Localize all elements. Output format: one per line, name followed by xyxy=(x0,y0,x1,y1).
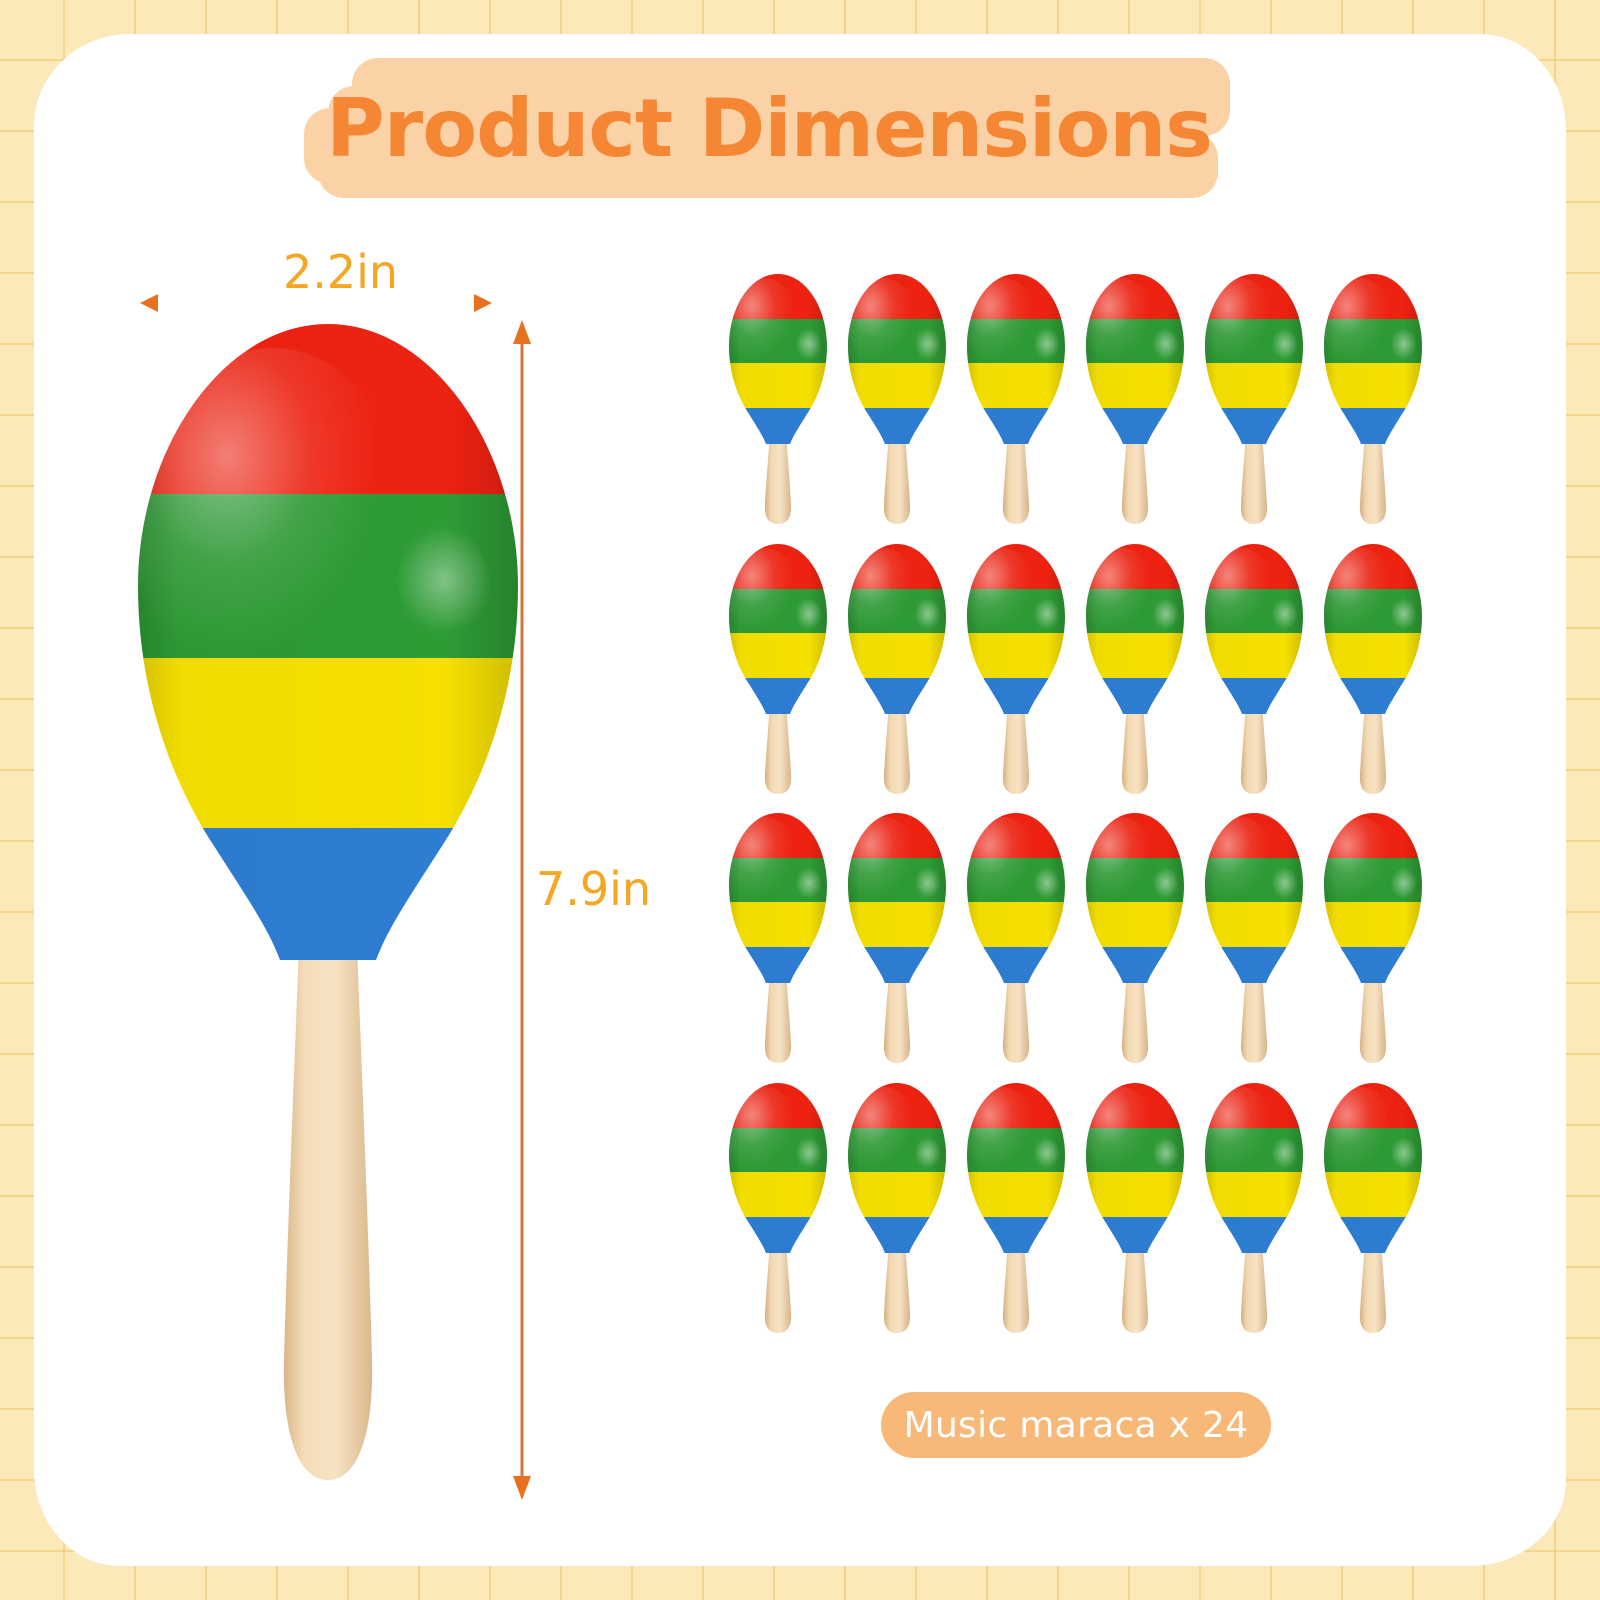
maraca-head xyxy=(1321,272,1425,452)
hero-maraca-head xyxy=(132,318,524,998)
maraca-handle xyxy=(1121,432,1147,524)
page-title: Product Dimensions xyxy=(304,58,1234,198)
maraca-illustration xyxy=(726,542,830,798)
maraca-head xyxy=(1321,1081,1425,1261)
maraca-item xyxy=(1313,811,1432,1081)
maraca-head xyxy=(726,1081,830,1261)
maraca-quantity-grid xyxy=(718,272,1432,1350)
maraca-item xyxy=(837,272,956,542)
maraca-head xyxy=(726,272,830,452)
maraca-head xyxy=(1202,811,1306,991)
maraca-head xyxy=(964,811,1068,991)
maraca-illustration xyxy=(1321,1081,1425,1337)
maraca-item xyxy=(1194,1081,1313,1351)
maraca-illustration xyxy=(964,811,1068,1067)
maraca-illustration xyxy=(964,1081,1068,1337)
maraca-item xyxy=(1313,272,1432,542)
maraca-head xyxy=(1202,542,1306,722)
maraca-head xyxy=(964,542,1068,722)
maraca-head xyxy=(1202,1081,1306,1261)
maraca-head xyxy=(726,811,830,991)
maraca-handle xyxy=(1002,971,1028,1063)
maraca-handle xyxy=(1240,702,1266,794)
maraca-item xyxy=(956,542,1075,812)
title-banner: Product Dimensions xyxy=(304,58,1234,198)
maraca-head xyxy=(1321,811,1425,991)
maraca-illustration xyxy=(1202,542,1306,798)
maraca-item xyxy=(1075,542,1194,812)
maraca-item xyxy=(1075,1081,1194,1351)
maraca-head xyxy=(845,1081,949,1261)
maraca-item xyxy=(718,811,837,1081)
maraca-item xyxy=(956,811,1075,1081)
maraca-head xyxy=(1321,542,1425,722)
maraca-item xyxy=(956,1081,1075,1351)
maraca-handle xyxy=(764,1241,790,1333)
maraca-handle xyxy=(883,971,909,1063)
maraca-illustration xyxy=(726,1081,830,1337)
maraca-illustration xyxy=(1321,542,1425,798)
maraca-handle xyxy=(1002,432,1028,524)
maraca-handle xyxy=(1240,1241,1266,1333)
maraca-item xyxy=(1194,272,1313,542)
maraca-head xyxy=(1202,272,1306,452)
maraca-item xyxy=(1194,542,1313,812)
maraca-item xyxy=(1075,811,1194,1081)
maraca-head xyxy=(726,542,830,722)
maraca-item xyxy=(837,1081,956,1351)
maraca-head xyxy=(1083,272,1187,452)
maraca-handle xyxy=(1002,702,1028,794)
maraca-item xyxy=(1313,1081,1432,1351)
maraca-head xyxy=(845,542,949,722)
maraca-item xyxy=(1194,811,1313,1081)
maraca-illustration xyxy=(1083,1081,1187,1337)
hero-maraca-handle xyxy=(284,918,372,1480)
width-dimension-label: 2.2in xyxy=(283,245,398,299)
maraca-illustration xyxy=(1321,272,1425,528)
hero-maraca-illustration xyxy=(132,318,524,1498)
maraca-item xyxy=(837,542,956,812)
maraca-head xyxy=(845,811,949,991)
maraca-illustration xyxy=(1202,272,1306,528)
maraca-illustration xyxy=(845,1081,949,1337)
maraca-illustration xyxy=(726,811,830,1067)
maraca-handle xyxy=(764,702,790,794)
maraca-item xyxy=(837,811,956,1081)
quantity-badge: Music maraca x 24 xyxy=(881,1392,1271,1458)
maraca-illustration xyxy=(964,542,1068,798)
maraca-item xyxy=(1313,542,1432,812)
maraca-item xyxy=(718,272,837,542)
maraca-illustration xyxy=(845,542,949,798)
maraca-handle xyxy=(1121,1241,1147,1333)
maraca-head xyxy=(845,272,949,452)
maraca-handle xyxy=(1240,971,1266,1063)
maraca-handle xyxy=(1359,432,1385,524)
height-dimension-label: 7.9in xyxy=(536,862,651,916)
maraca-handle xyxy=(883,702,909,794)
maraca-illustration xyxy=(1202,1081,1306,1337)
maraca-head xyxy=(964,1081,1068,1261)
maraca-handle xyxy=(1121,971,1147,1063)
maraca-illustration xyxy=(726,272,830,528)
maraca-handle xyxy=(1359,702,1385,794)
maraca-illustration xyxy=(845,811,949,1067)
maraca-illustration xyxy=(1083,542,1187,798)
maraca-handle xyxy=(1121,702,1147,794)
maraca-head xyxy=(1083,811,1187,991)
maraca-illustration xyxy=(1321,811,1425,1067)
maraca-item xyxy=(718,1081,837,1351)
maraca-handle xyxy=(1359,1241,1385,1333)
maraca-illustration xyxy=(1083,811,1187,1067)
maraca-head xyxy=(964,272,1068,452)
maraca-illustration xyxy=(1202,811,1306,1067)
maraca-head xyxy=(1083,1081,1187,1261)
maraca-item xyxy=(718,542,837,812)
maraca-illustration xyxy=(845,272,949,528)
infographic-canvas: Product Dimensions 2.2in 7.9in xyxy=(0,0,1600,1600)
maraca-handle xyxy=(1240,432,1266,524)
maraca-handle xyxy=(1002,1241,1028,1333)
maraca-illustration xyxy=(964,272,1068,528)
maraca-item xyxy=(956,272,1075,542)
maraca-head xyxy=(1083,542,1187,722)
maraca-handle xyxy=(764,432,790,524)
maraca-handle xyxy=(883,1241,909,1333)
maraca-handle xyxy=(1359,971,1385,1063)
maraca-illustration xyxy=(1083,272,1187,528)
maraca-item xyxy=(1075,272,1194,542)
maraca-handle xyxy=(764,971,790,1063)
maraca-handle xyxy=(883,432,909,524)
